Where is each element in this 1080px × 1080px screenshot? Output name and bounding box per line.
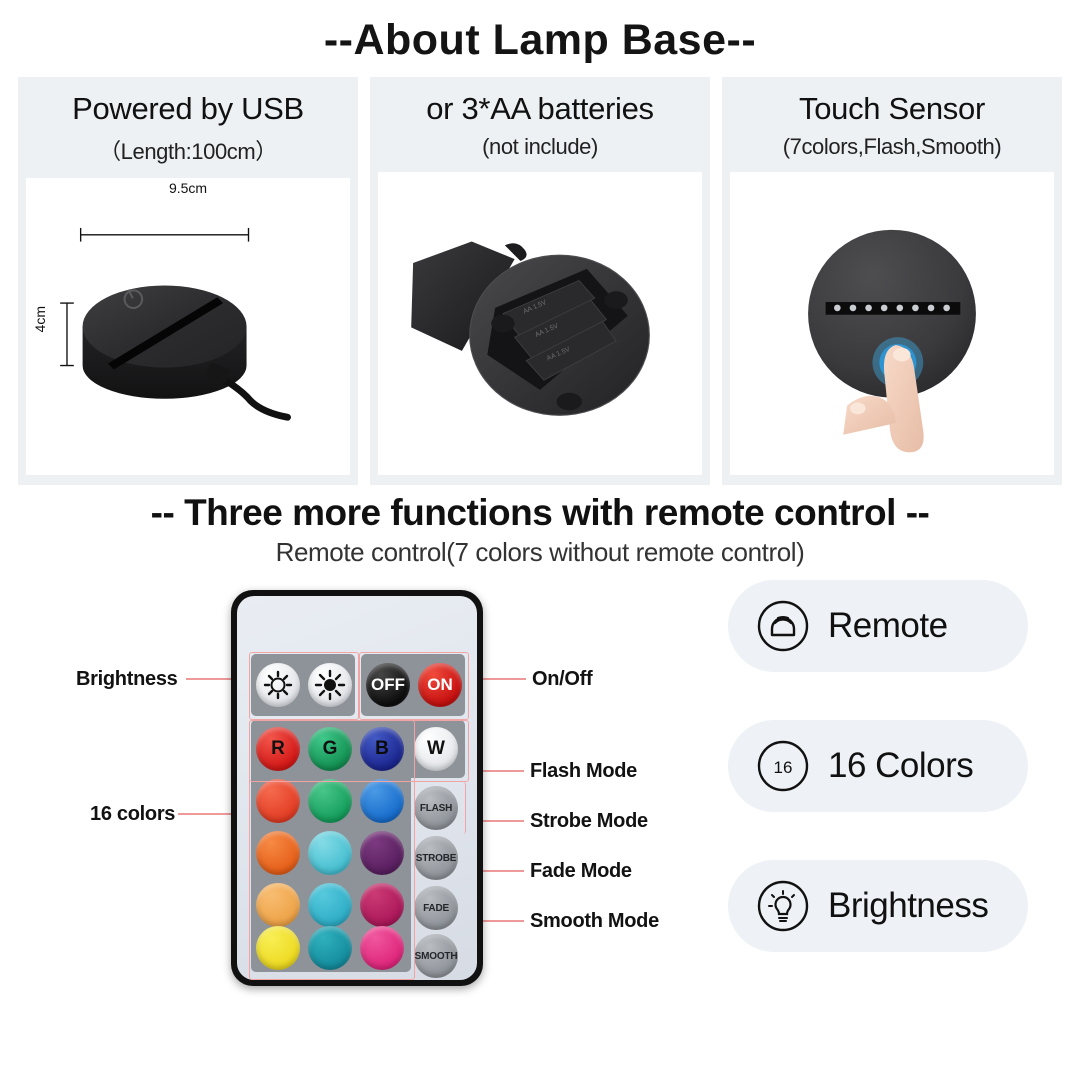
smooth-mode-button[interactable]: SMOOTH [414,934,458,978]
panel-title: or 3*AA batteries [426,91,654,127]
feature-brightness[interactable]: Brightness [728,860,1028,952]
fade-mode-button[interactable]: FADE [414,886,458,930]
panel-aa-batteries: or 3*AA batteries (not include) [370,77,710,485]
annotation-smooth: Smooth Mode [530,910,659,933]
off-button[interactable]: OFF [366,663,410,707]
annotation-onoff: On/Off [532,668,592,691]
color-button[interactable] [360,926,404,970]
color-button-g[interactable]: G [308,727,352,771]
color-button[interactable] [256,883,300,927]
sun-bright-icon [308,663,352,707]
strobe-mode-button[interactable]: STROBE [414,836,458,880]
ir-remote-control: OFF ON R G B W FLASH STROBE FADE SM [231,590,483,986]
dimension-width-label: 9.5cm [169,180,207,196]
panel-subtitle: （Length:100cm） [99,134,277,166]
on-button[interactable]: ON [418,663,462,707]
remote-diagram: Brightness 16 colors On/Off Flash Mode S… [0,568,1080,1020]
color-button-r[interactable]: R [256,727,300,771]
remote-signal-icon [756,599,810,653]
sun-dim-icon [256,663,300,707]
feature-label: Brightness [828,886,988,926]
color-button[interactable] [256,779,300,823]
lamp-base-usb-photo: 9.5cm 4cm [26,178,350,475]
panel-powered-by-usb: Powered by USB （Length:100cm） [18,77,358,485]
color-button-w[interactable]: W [414,727,458,771]
dimension-height-label: 4cm [32,306,48,332]
feature-remote[interactable]: Remote [728,580,1028,672]
feature-16-colors[interactable]: 16 16 Colors [728,720,1028,812]
feature-label: 16 Colors [828,746,973,786]
color-button[interactable] [360,883,404,927]
color-button[interactable] [360,831,404,875]
color-button[interactable] [308,926,352,970]
section-headline: -- Three more functions with remote cont… [0,492,1080,534]
color-button[interactable] [308,883,352,927]
brightness-down-button[interactable] [256,663,300,707]
section-subline: Remote control(7 colors without remote c… [0,537,1080,568]
annotation-fade: Fade Mode [530,860,632,883]
feature-label: Remote [828,606,948,646]
circle-16-icon: 16 [756,739,810,793]
color-button[interactable] [308,779,352,823]
flash-mode-button[interactable]: FLASH [414,786,458,830]
color-button[interactable] [308,831,352,875]
lightbulb-icon [756,879,810,933]
annotation-brightness: Brightness [76,668,177,691]
touch-sensor-photo [730,172,1054,475]
panel-touch-sensor: Touch Sensor (7colors,Flash,Smooth) [722,77,1062,485]
brightness-up-button[interactable] [308,663,352,707]
annotation-strobe: Strobe Mode [530,810,648,833]
svg-text:16: 16 [774,758,793,777]
panel-title: Powered by USB [72,91,304,127]
panel-subtitle: (not include) [482,134,598,160]
panel-subtitle: (7colors,Flash,Smooth) [783,134,1002,160]
panel-title: Touch Sensor [799,91,985,127]
battery-compartment-photo: AA 1.5V AA 1.5V AA 1.5V [378,172,702,475]
annotation-16-colors: 16 colors [90,803,175,826]
color-button[interactable] [256,831,300,875]
color-button[interactable] [360,779,404,823]
feature-panels: Powered by USB （Length:100cm） [0,65,1080,485]
annotation-flash: Flash Mode [530,760,637,783]
color-button-b[interactable]: B [360,727,404,771]
color-button[interactable] [256,926,300,970]
page-title: --About Lamp Base-- [0,0,1080,65]
